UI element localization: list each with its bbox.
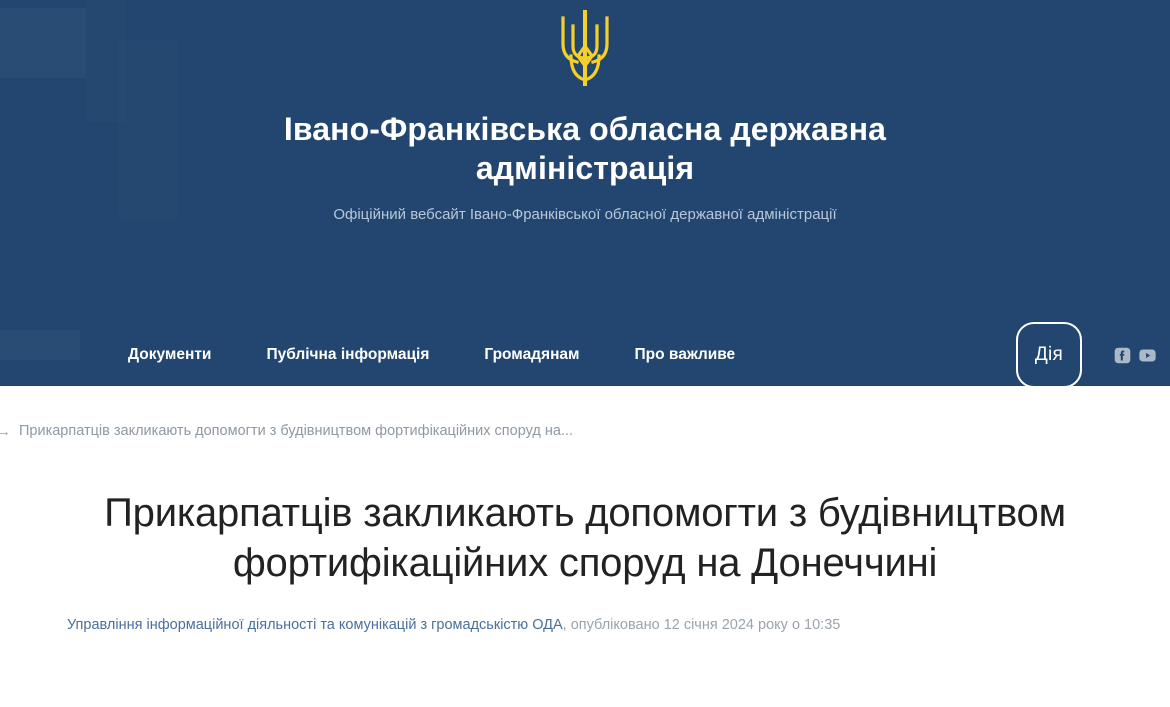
main-navigation: Документи Публічна інформація Громадянам… [0, 324, 1170, 386]
article-meta-author-link[interactable]: Управління інформаційної діяльності та к… [67, 617, 563, 633]
site-subtitle: Офіційний вебсайт Івано-Франківської обл… [285, 204, 885, 227]
social-icons [1114, 347, 1156, 364]
diia-button[interactable]: Дія [1016, 322, 1082, 386]
article-meta-publish-date: , опубліковано 12 січня 2024 року о 10:3… [563, 617, 841, 633]
nav-link-hromadianam[interactable]: Громадянам [484, 340, 579, 370]
ukraine-trident-icon [558, 10, 612, 86]
facebook-icon[interactable] [1114, 347, 1131, 364]
site-title: Івано-Франківська обласна державна адмін… [265, 110, 905, 188]
nav-right-group: Дія [1016, 324, 1156, 386]
nav-link-dokumenty[interactable]: Документи [128, 340, 211, 370]
nav-link-publichna-informatsiia[interactable]: Публічна інформація [266, 340, 429, 370]
article: Прикарпатців закликають допомогти з буді… [0, 488, 1170, 637]
breadcrumb: → Прикарпатців закликають допомогти з бу… [0, 408, 1170, 454]
nav-links: Документи Публічна інформація Громадянам… [128, 340, 735, 370]
article-meta: Управління інформаційної діяльності та к… [64, 615, 1106, 637]
youtube-icon[interactable] [1139, 347, 1156, 364]
site-header: Івано-Франківська обласна державна адмін… [0, 0, 1170, 386]
breadcrumb-current-item[interactable]: Прикарпатців закликають допомогти з буді… [19, 423, 573, 439]
nav-link-pro-vazhlyve[interactable]: Про важливе [635, 340, 736, 370]
article-title: Прикарпатців закликають допомогти з буді… [64, 488, 1106, 589]
breadcrumb-arrow-icon: → [0, 424, 11, 439]
